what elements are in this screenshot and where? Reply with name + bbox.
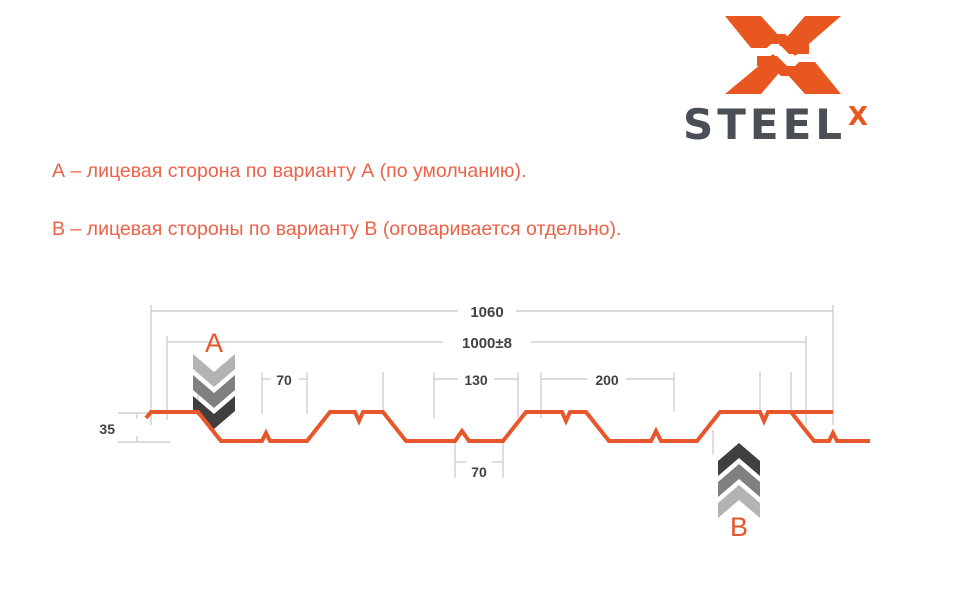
dimension-overall-width: 1060 [470, 304, 503, 321]
dimension-height: 35 [99, 421, 115, 437]
corrugated-profile-line [146, 412, 870, 441]
chevron-down-triple-icon [193, 354, 235, 429]
chevron-up-triple-icon [718, 443, 760, 518]
marker-b-label: В [730, 512, 748, 542]
dimension-crest-top: 70 [276, 372, 292, 388]
dimension-pitch-130: 130 [464, 372, 488, 388]
marker-a-label: А [205, 328, 223, 358]
dimension-valley-bottom: 70 [471, 464, 487, 480]
profile-technical-drawing: 1060 1000±8 70 130 200 70 35 А В [0, 0, 970, 597]
dimension-useful-width: 1000±8 [462, 335, 512, 352]
dimension-pitch-200: 200 [595, 372, 619, 388]
